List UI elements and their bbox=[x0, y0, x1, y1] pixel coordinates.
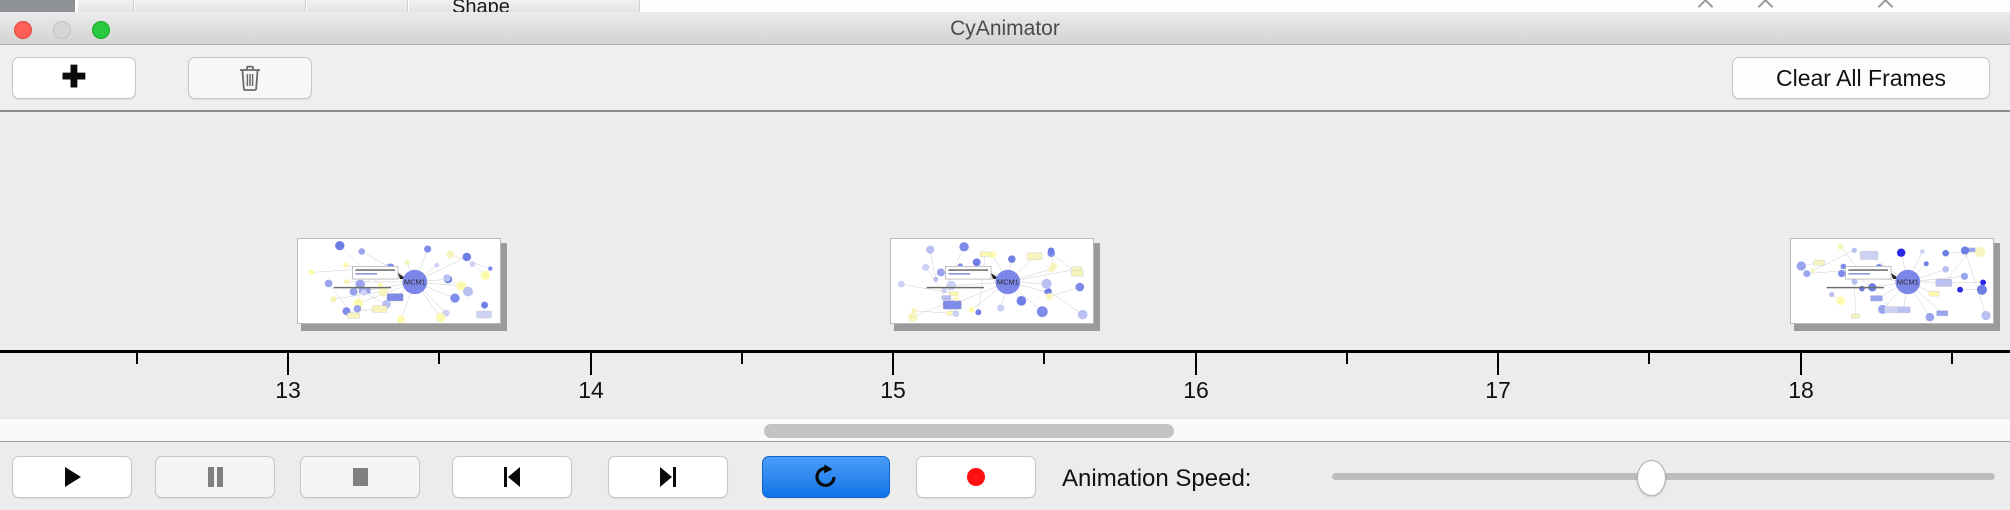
loop-button[interactable] bbox=[762, 456, 890, 498]
pause-icon bbox=[202, 463, 228, 491]
stop-button[interactable] bbox=[300, 456, 420, 498]
animation-speed-slider[interactable] bbox=[1332, 456, 1995, 498]
record-button[interactable] bbox=[916, 456, 1036, 498]
play-button[interactable] bbox=[12, 456, 132, 498]
axis-tick bbox=[1195, 353, 1197, 375]
timeline-panel[interactable]: MCM1MCM1MCM1 12131415161718 Seconds bbox=[0, 112, 2010, 402]
frame-thumbnail-image: MCM1 bbox=[890, 238, 1094, 324]
pause-button[interactable] bbox=[155, 456, 275, 498]
skip-to-end-button[interactable] bbox=[608, 456, 728, 498]
svg-text:MCM1: MCM1 bbox=[404, 278, 426, 287]
axis-tick bbox=[287, 353, 289, 375]
axis-tick-label: 15 bbox=[880, 377, 906, 402]
skip-to-end-icon bbox=[655, 463, 681, 491]
play-icon bbox=[59, 463, 85, 491]
clear-all-frames-button[interactable]: Clear All Frames bbox=[1732, 57, 1990, 99]
record-icon bbox=[963, 463, 989, 491]
delete-frame-button[interactable] bbox=[188, 57, 312, 99]
skip-to-start-button[interactable] bbox=[452, 456, 572, 498]
animation-speed-label: Animation Speed: bbox=[1062, 465, 1251, 493]
axis-tick bbox=[1043, 353, 1045, 364]
skip-to-start-icon bbox=[499, 463, 525, 491]
frame-toolbar: ✚ Clear All Frames bbox=[0, 45, 2010, 112]
background-toolbar-cell bbox=[409, 0, 640, 12]
frame-thumbnail-image: MCM1 bbox=[1790, 238, 1994, 324]
svg-text:MCM1: MCM1 bbox=[1897, 278, 1919, 287]
trash-icon bbox=[237, 64, 263, 92]
loop-icon bbox=[812, 462, 840, 492]
axis-tick-label: 14 bbox=[578, 377, 604, 402]
frame-thumbnail-2[interactable]: MCM1 bbox=[890, 238, 1100, 328]
axis-tick-label: 17 bbox=[1485, 377, 1511, 402]
background-shape-label: Shape bbox=[452, 0, 510, 12]
axis-tick bbox=[1648, 353, 1650, 364]
axis-tick bbox=[1951, 353, 1953, 364]
axis-tick bbox=[892, 353, 894, 375]
axis-tick bbox=[1800, 353, 1802, 375]
add-frame-button[interactable]: ✚ bbox=[12, 57, 136, 99]
axis-tick bbox=[1346, 353, 1348, 364]
axis-tick bbox=[741, 353, 743, 364]
axis-tick bbox=[1497, 353, 1499, 375]
frame-thumbnail-image: MCM1 bbox=[297, 238, 501, 324]
plus-icon: ✚ bbox=[61, 63, 86, 93]
slider-thumb[interactable] bbox=[1637, 460, 1666, 496]
chevron-up-icon bbox=[1698, 0, 1714, 12]
axis-tick bbox=[136, 353, 138, 364]
axis-tick-label: 18 bbox=[1788, 377, 1814, 402]
playback-control-bar: Animation Speed: bbox=[0, 443, 2010, 510]
frame-thumbnail-3[interactable]: MCM1 bbox=[1790, 238, 2000, 328]
frame-thumbnail-1[interactable]: MCM1 bbox=[297, 238, 507, 328]
axis-tick bbox=[438, 353, 440, 364]
background-toolbar-cell bbox=[307, 0, 408, 12]
svg-text:MCM1: MCM1 bbox=[997, 278, 1019, 287]
axis-tick bbox=[590, 353, 592, 375]
timeline-horizontal-scrollbar[interactable] bbox=[0, 418, 2010, 442]
axis-tick-label: 13 bbox=[275, 377, 301, 402]
scrollbar-thumb[interactable] bbox=[764, 424, 1174, 438]
background-window-dark-strip bbox=[0, 0, 75, 12]
stop-icon bbox=[347, 463, 373, 491]
background-toolbar-cell bbox=[135, 0, 306, 12]
timeline-axis-line bbox=[0, 350, 2010, 353]
background-toolbar-cell bbox=[78, 0, 134, 12]
window-title: CyAnimator bbox=[0, 17, 2010, 41]
background-window-sliver: Shape bbox=[0, 0, 2010, 12]
cyanimator-window: Shape CyAnimator ✚ Clear All Frames MCM1… bbox=[0, 0, 2010, 510]
title-bar[interactable]: CyAnimator bbox=[0, 12, 2010, 45]
axis-tick-label: 16 bbox=[1183, 377, 1209, 402]
chevron-up-icon bbox=[1758, 0, 1774, 12]
chevron-up-icon bbox=[1878, 0, 1894, 12]
